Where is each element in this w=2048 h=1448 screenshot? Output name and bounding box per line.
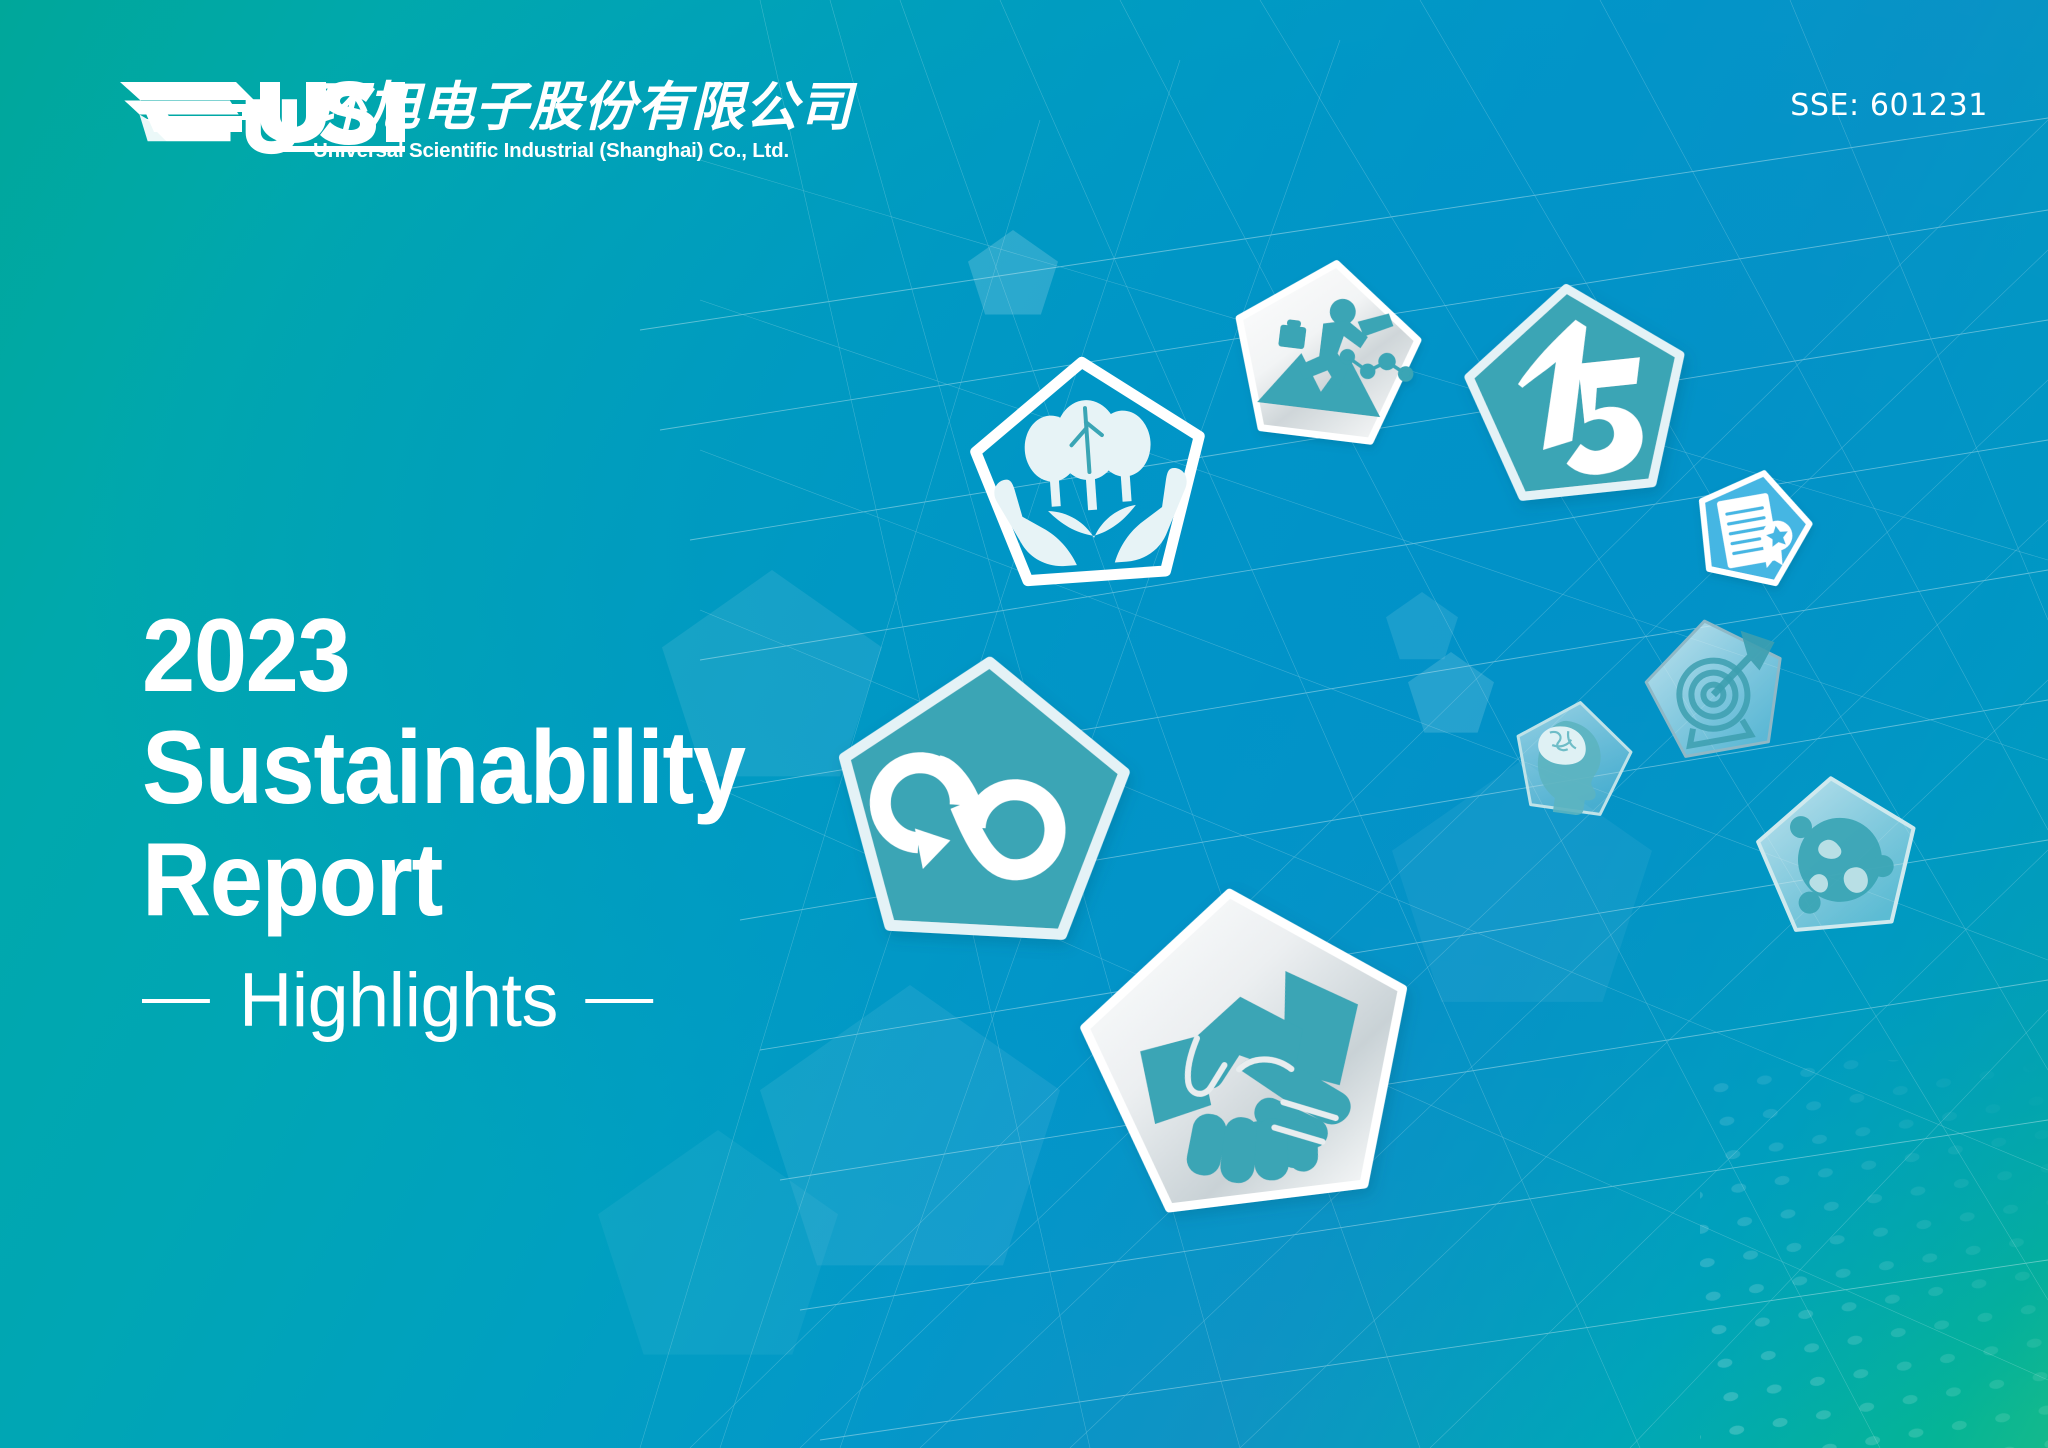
badge-cluster: [0, 0, 2048, 1448]
badge-circular-economy[interactable]: [836, 655, 1130, 937]
badge-target-goal[interactable]: [1638, 609, 1795, 761]
badge-growth-climber[interactable]: [1226, 253, 1426, 446]
badge-community-globe[interactable]: [1753, 772, 1921, 933]
badge-anniversary-15[interactable]: [1461, 278, 1693, 501]
badge-nature-care[interactable]: [970, 354, 1208, 583]
badge-innovation-brain[interactable]: [1508, 695, 1636, 822]
badge-partnership[interactable]: [1071, 874, 1426, 1216]
badge-certificate[interactable]: [1688, 462, 1818, 589]
report-cover-page: 环旭电子股份有限公司 Universal Scientific Industri…: [0, 0, 2048, 1448]
